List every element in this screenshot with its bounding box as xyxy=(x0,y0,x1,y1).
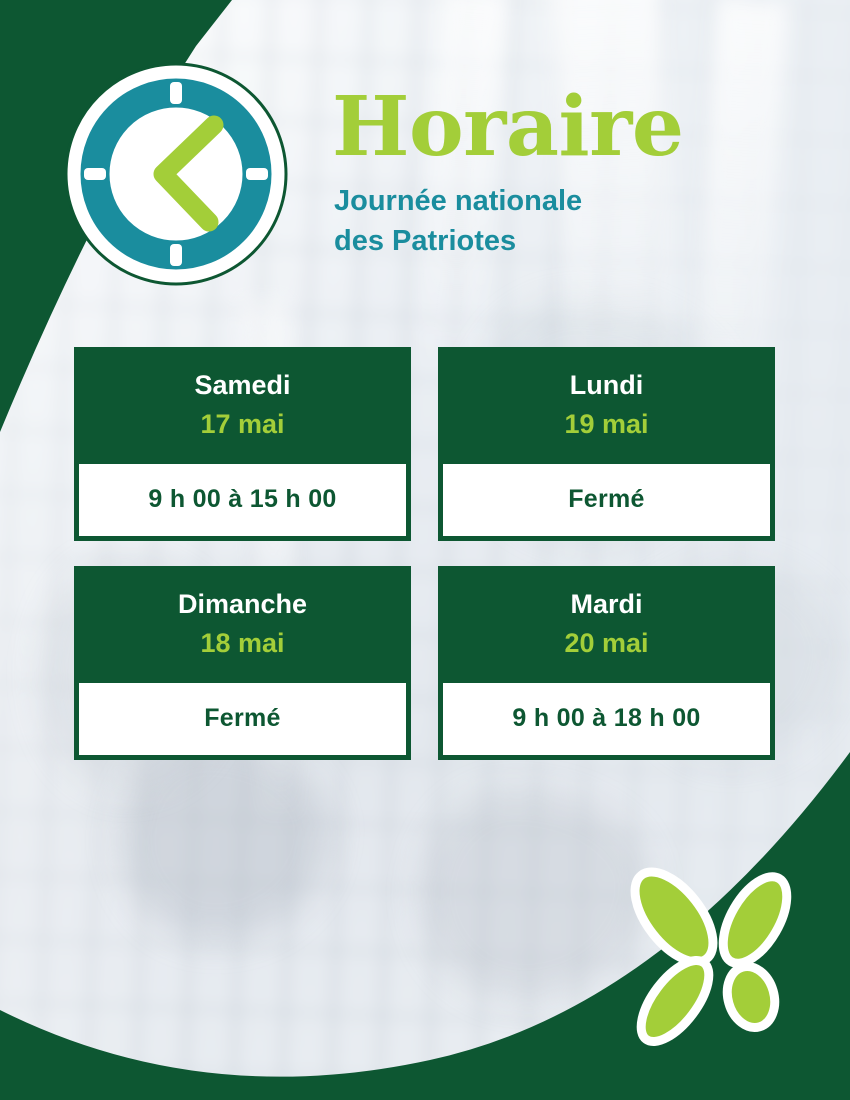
schedule-poster: Horaire Journée nationale des Patriotes … xyxy=(0,0,850,1100)
card-header: Dimanche 18 mai xyxy=(76,568,409,683)
card-body: 9 h 00 à 18 h 00 xyxy=(443,683,770,755)
page-title: Horaire xyxy=(332,88,772,167)
card-hours-label: Fermé xyxy=(204,704,281,733)
card-hours-label: Fermé xyxy=(568,485,645,514)
schedule-cards-grid: Samedi 17 mai 9 h 00 à 15 h 00 Lundi 19 … xyxy=(74,347,775,760)
card-header: Samedi 17 mai xyxy=(76,349,409,464)
card-date-label: 18 mai xyxy=(86,626,399,661)
schedule-card-mardi: Mardi 20 mai 9 h 00 à 18 h 00 xyxy=(438,566,775,760)
card-date-label: 17 mai xyxy=(86,407,399,442)
poster-header: Horaire Journée nationale des Patriotes xyxy=(332,88,772,261)
card-day-label: Lundi xyxy=(450,369,763,403)
page-subtitle: Journée nationale des Patriotes xyxy=(334,181,772,261)
card-header: Lundi 19 mai xyxy=(440,349,773,464)
card-hours-label: 9 h 00 à 18 h 00 xyxy=(512,704,700,733)
card-body: Fermé xyxy=(79,683,406,755)
card-day-label: Samedi xyxy=(86,369,399,403)
card-hours-label: 9 h 00 à 15 h 00 xyxy=(148,485,336,514)
clock-icon xyxy=(64,62,288,286)
card-body: 9 h 00 à 15 h 00 xyxy=(79,464,406,536)
card-day-label: Mardi xyxy=(450,588,763,622)
card-body: Fermé xyxy=(443,464,770,536)
schedule-card-dimanche: Dimanche 18 mai Fermé xyxy=(74,566,411,760)
schedule-card-lundi: Lundi 19 mai Fermé xyxy=(438,347,775,541)
card-header: Mardi 20 mai xyxy=(440,568,773,683)
card-day-label: Dimanche xyxy=(86,588,399,622)
schedule-card-samedi: Samedi 17 mai 9 h 00 à 15 h 00 xyxy=(74,347,411,541)
butterfly-logo-icon xyxy=(612,855,822,1065)
card-date-label: 20 mai xyxy=(450,626,763,661)
card-date-label: 19 mai xyxy=(450,407,763,442)
